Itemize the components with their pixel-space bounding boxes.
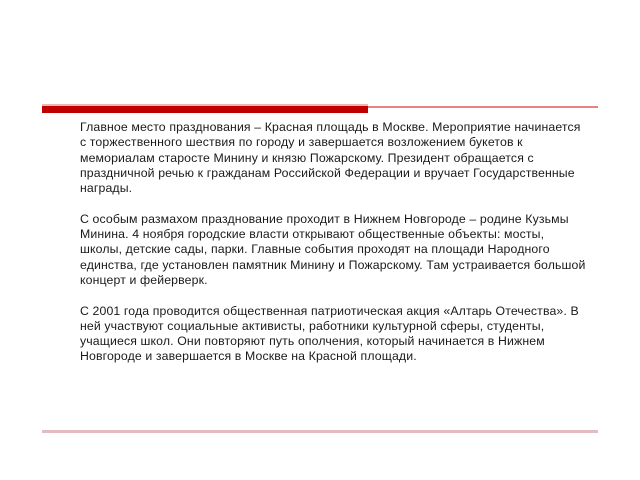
top-divider (42, 104, 598, 113)
slide-canvas: Главное место празднования – Красная пло… (0, 0, 640, 480)
paragraph-1: Главное место празднования – Красная пло… (80, 120, 588, 196)
top-divider-thick-bar-highlight (42, 104, 368, 106)
paragraph-2: С особым размахом празднование проходит … (80, 212, 588, 288)
bottom-divider (42, 430, 598, 433)
paragraph-3: С 2001 года проводится общественная патр… (80, 304, 588, 365)
body-text-block: Главное место празднования – Красная пло… (80, 120, 588, 365)
top-divider-thick-bar (42, 105, 368, 113)
